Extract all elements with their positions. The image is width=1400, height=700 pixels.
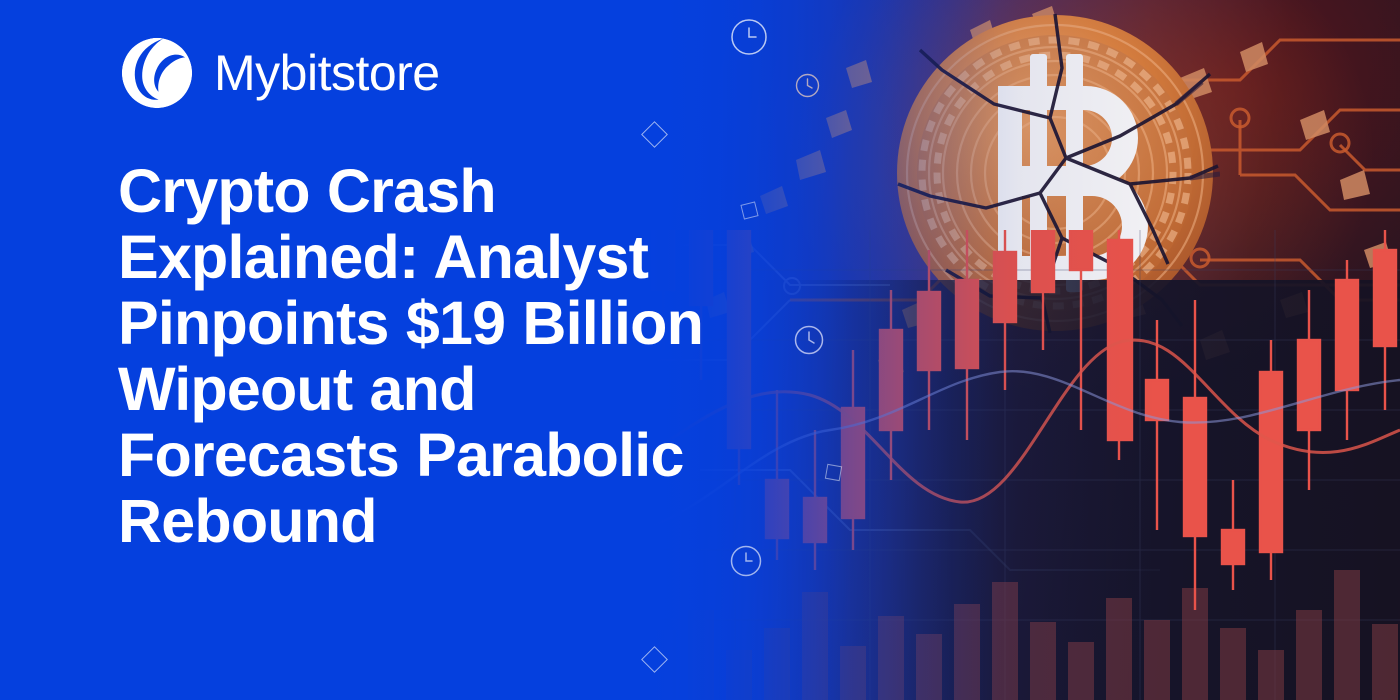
ma-fast-line	[640, 340, 1400, 502]
candlesticks	[652, 230, 1396, 610]
brand-name-text: Mybitstore	[214, 48, 440, 98]
chart-gridlines	[640, 230, 1400, 700]
mybitstore-swirl-logo-icon	[118, 34, 196, 112]
candlestick-chart	[640, 230, 1400, 700]
hero-content: Mybitstore Crypto Crash Explained: Analy…	[0, 0, 720, 700]
volume-bars	[650, 570, 1398, 700]
article-hero-banner: Mybitstore Crypto Crash Explained: Analy…	[0, 0, 1400, 700]
page-title: Crypto Crash Explained: Analyst Pinpoint…	[118, 158, 718, 554]
hero-artwork	[640, 0, 1400, 700]
brand-logo[interactable]: Mybitstore	[118, 34, 440, 112]
